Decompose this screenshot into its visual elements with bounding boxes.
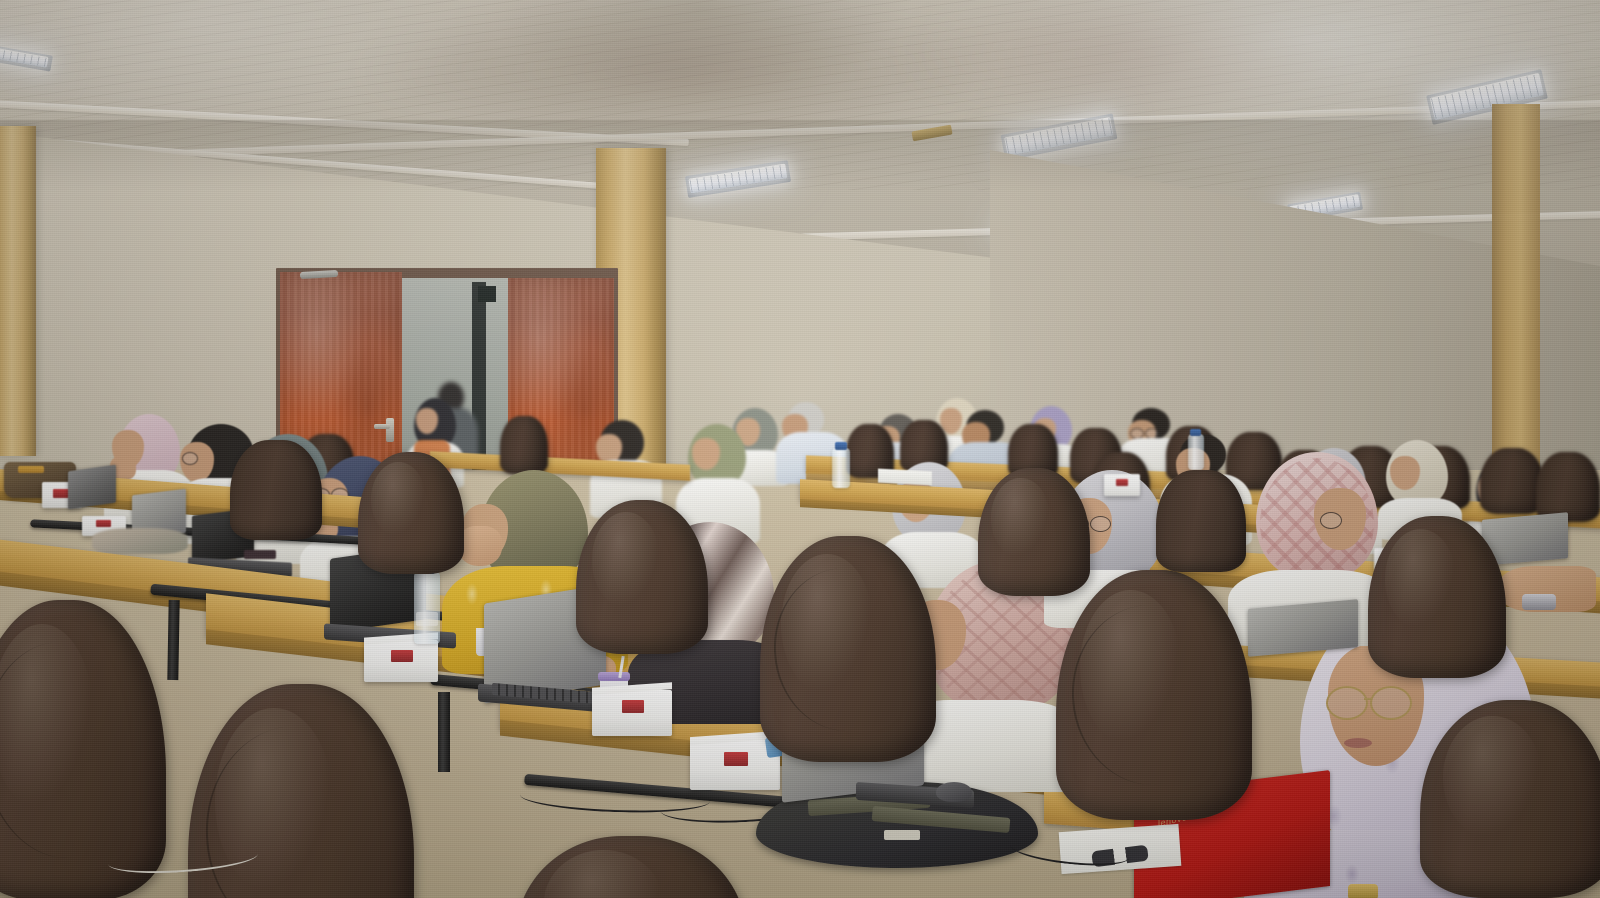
- photograph-scene: lenovo: [0, 0, 1600, 898]
- wall-top-shading: [0, 120, 1600, 240]
- laptop-7[interactable]: [1248, 599, 1358, 657]
- left-column: [0, 126, 36, 456]
- snack-box-4[interactable]: [592, 690, 672, 736]
- chair-mid-left-2[interactable]: [230, 440, 322, 540]
- chair-mid-left[interactable]: [358, 452, 464, 574]
- gold-wristwatch: [1348, 884, 1378, 898]
- chair-mid-right[interactable]: [1368, 516, 1506, 678]
- door-handle-icon[interactable]: [386, 418, 394, 442]
- door-handle-icon-2[interactable]: [374, 424, 390, 429]
- chair-foreground-right-1[interactable]: [760, 536, 936, 762]
- hands-clasped: [458, 526, 502, 566]
- water-bottle-2[interactable]: [832, 448, 850, 488]
- chair-mid-center[interactable]: [576, 500, 708, 654]
- snack-box-7[interactable]: [1104, 474, 1140, 496]
- chair-foreground-right-2[interactable]: [1056, 570, 1252, 820]
- water-bottle-3[interactable]: [1188, 434, 1204, 470]
- water-bottle-1[interactable]: [414, 572, 440, 644]
- desk-leg-center-1: [438, 692, 450, 772]
- mouth: [1344, 738, 1372, 748]
- eyeglasses-icon: [1326, 686, 1368, 720]
- wristwatch-icon: [1522, 594, 1556, 610]
- chair-back-9[interactable]: [1480, 448, 1544, 514]
- notebook-paper-1[interactable]: [878, 469, 932, 486]
- fabric-pouch[interactable]: [92, 528, 188, 554]
- chair-bottom-right[interactable]: [1420, 700, 1600, 898]
- chair-back-11[interactable]: [500, 416, 548, 474]
- mouse[interactable]: [936, 782, 972, 802]
- chair-row4-right[interactable]: [1156, 470, 1246, 572]
- corridor-transom-window: [478, 286, 496, 302]
- desk-row-2-phone[interactable]: [244, 550, 276, 559]
- chair-back-10[interactable]: [1536, 452, 1600, 522]
- chair-right-rear[interactable]: [978, 468, 1090, 596]
- laptop-1[interactable]: [68, 465, 116, 510]
- eyeglasses-icon-2: [1370, 686, 1412, 720]
- snack-box-3[interactable]: [364, 640, 438, 682]
- desk-leg-left-1: [167, 600, 179, 680]
